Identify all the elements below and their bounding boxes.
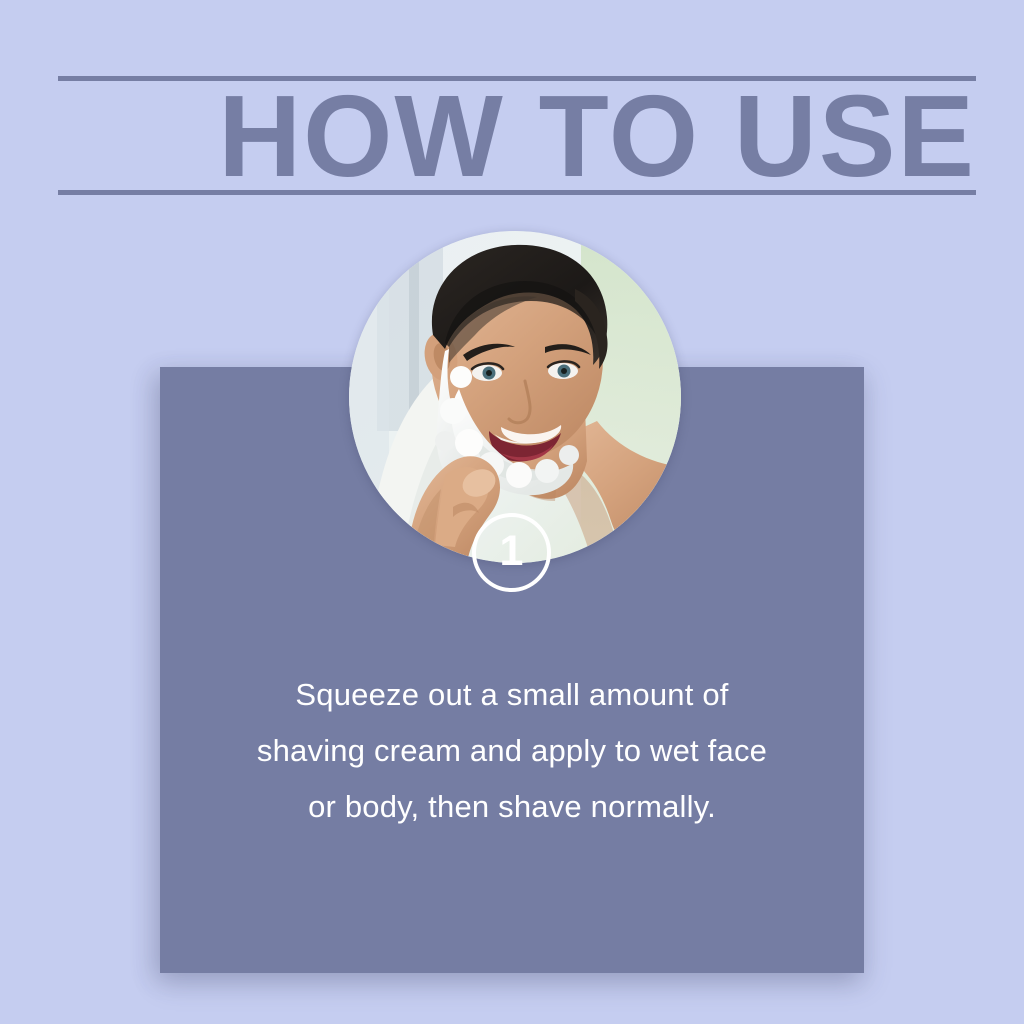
step-number-label: 1 — [500, 530, 524, 573]
poster-canvas: HOW TO USE Squeeze out a small amount of… — [0, 0, 1024, 1024]
header-rule-bottom — [58, 190, 976, 195]
header: HOW TO USE — [58, 76, 976, 196]
step-description: Squeeze out a small amount of shaving cr… — [212, 667, 812, 835]
step-number-badge: 1 — [472, 513, 551, 592]
step-description-line-2: shaving cream and apply to wet face — [212, 723, 812, 779]
step-description-line-1: Squeeze out a small amount of — [212, 667, 812, 723]
step-description-line-3: or body, then shave normally. — [212, 779, 812, 835]
page-title: HOW TO USE — [156, 84, 976, 188]
